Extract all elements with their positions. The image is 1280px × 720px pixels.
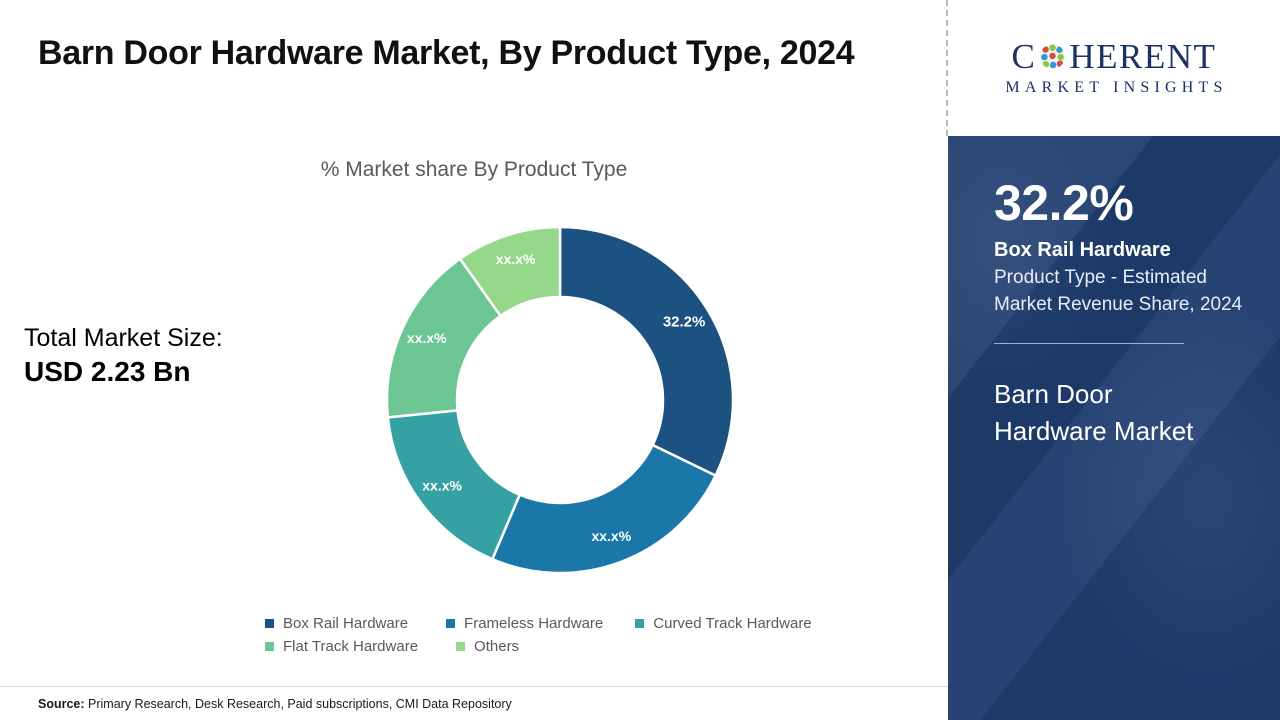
donut-slice-label: xx.x% [422, 477, 462, 493]
total-market-size-value: USD 2.23 Bn [24, 354, 324, 391]
chart-subtitle: % Market share By Product Type [0, 158, 948, 182]
legend-row: Flat Track HardwareOthers [265, 639, 885, 654]
total-market-size-label: Total Market Size: [24, 322, 324, 354]
chart-panel: Barn Door Hardware Market, By Product Ty… [0, 0, 948, 720]
source-label: Source: [38, 697, 85, 711]
legend-item[interactable]: Box Rail Hardware [265, 616, 408, 631]
callout-market-name: Barn Door Hardware Market [994, 376, 1204, 450]
page-title: Barn Door Hardware Market, By Product Ty… [38, 28, 888, 78]
donut-slice-label: xx.x% [591, 528, 631, 544]
donut-slice-label: 32.2% [663, 313, 706, 330]
legend-swatch [265, 619, 274, 628]
legend-item[interactable]: Frameless Hardware [446, 616, 603, 631]
donut-chart-svg: 32.2%xx.x%xx.x%xx.x%xx.x% [385, 225, 735, 575]
source-text: Source: Primary Research, Desk Research,… [0, 697, 512, 711]
legend-swatch [446, 619, 455, 628]
brand-panel: C HERENT MARKET INSIGHTS 32.2% Box Rail … [948, 0, 1280, 720]
donut-slice-label: xx.x% [407, 330, 447, 346]
callout-divider [994, 343, 1184, 344]
donut-chart: 32.2%xx.x%xx.x%xx.x%xx.x% [385, 225, 735, 575]
legend-label: Flat Track Hardware [283, 639, 418, 654]
legend-item[interactable]: Curved Track Hardware [635, 616, 811, 631]
legend-item[interactable]: Flat Track Hardware [265, 639, 418, 654]
legend-label: Others [474, 639, 519, 654]
legend-label: Curved Track Hardware [653, 616, 811, 631]
globe-dots-icon [1038, 42, 1067, 71]
donut-slice[interactable] [560, 227, 733, 476]
callout-panel: 32.2% Box Rail Hardware Product Type - E… [948, 136, 1280, 720]
total-market-size: Total Market Size: USD 2.23 Bn [24, 322, 324, 391]
donut-slice[interactable] [492, 445, 715, 573]
legend-swatch [456, 642, 465, 651]
brand-logo: C HERENT MARKET INSIGHTS [948, 0, 1280, 137]
legend-swatch [635, 619, 644, 628]
brand-logo-wordmark: C HERENT [1012, 39, 1217, 74]
legend-item[interactable]: Others [456, 639, 519, 654]
source-value: Primary Research, Desk Research, Paid su… [85, 697, 512, 711]
legend-label: Box Rail Hardware [283, 616, 408, 631]
brand-logo-letter-c: C [1012, 39, 1037, 74]
chart-legend: Box Rail HardwareFrameless HardwareCurve… [265, 616, 885, 662]
source-bar: Source: Primary Research, Desk Research,… [0, 686, 948, 720]
callout-segment-name: Box Rail Hardware [994, 238, 1254, 263]
legend-swatch [265, 642, 274, 651]
brand-logo-rest: HERENT [1069, 39, 1216, 74]
legend-row: Box Rail HardwareFrameless HardwareCurve… [265, 616, 885, 631]
donut-slice-label: xx.x% [496, 251, 536, 267]
brand-logo-tagline: MARKET INSIGHTS [1000, 79, 1227, 97]
legend-label: Frameless Hardware [464, 616, 603, 631]
callout-description: Product Type - Estimated Market Revenue … [994, 265, 1246, 319]
callout-percent: 32.2% [994, 178, 1254, 228]
